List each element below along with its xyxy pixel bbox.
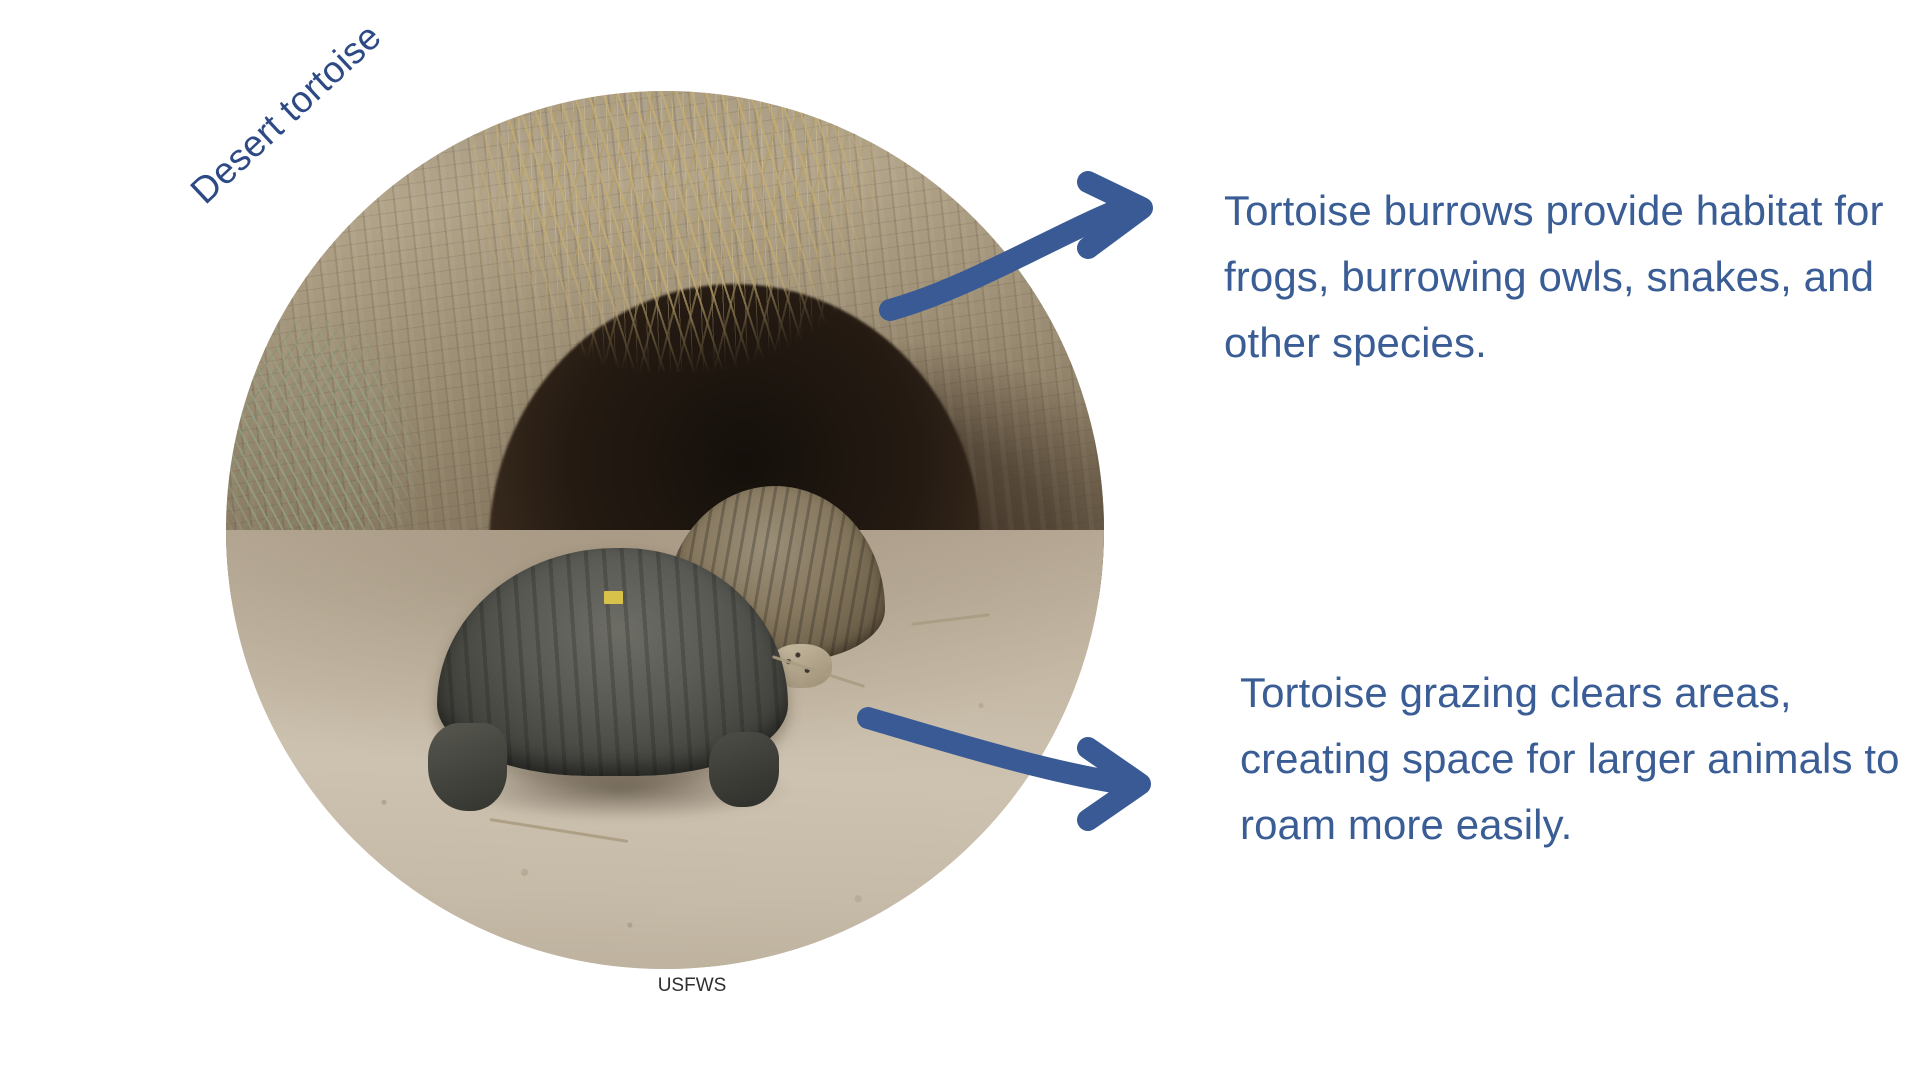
desert-tortoise-photo <box>226 91 1104 969</box>
photo-credit: USFWS <box>0 975 1384 997</box>
callout-burrow-habitat-text: Tortoise burrows provide habitat for fro… <box>1224 178 1884 376</box>
photo-scene <box>226 91 1104 969</box>
tortoise-id-tag <box>604 591 623 603</box>
callout-grazing-clearing: Tortoise grazing clears areas, creating … <box>1240 660 1900 858</box>
callout-grazing-clearing-text: Tortoise grazing clears areas, creating … <box>1240 660 1900 858</box>
tortoise-hind-leg <box>709 732 779 807</box>
infographic-canvas: Desert tortoise USFWS Tortoise burrows p… <box>0 0 1920 1080</box>
dry-grass-tuft <box>472 91 876 372</box>
callout-burrow-habitat: Tortoise burrows provide habitat for fro… <box>1224 178 1884 376</box>
tortoise-front-leg <box>428 723 507 811</box>
